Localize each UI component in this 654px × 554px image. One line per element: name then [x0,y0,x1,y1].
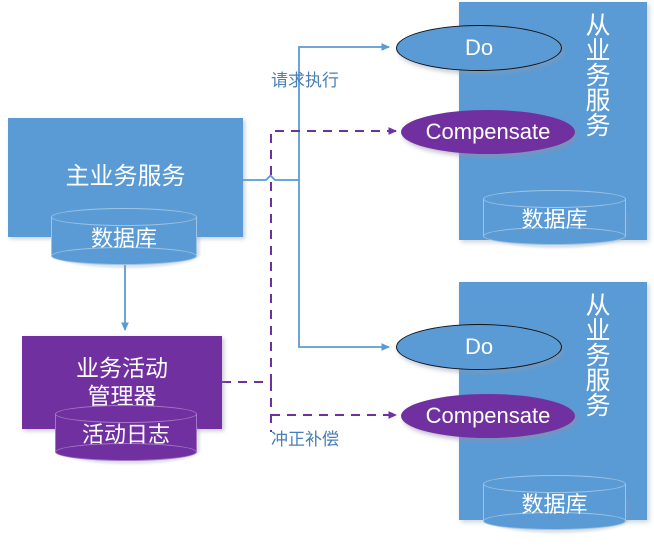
request-execute-edge-label: 请求执行 [271,66,339,91]
sub-service-1-do-node[interactable]: Do [396,25,562,71]
sub-service-2-do-node[interactable]: Do [396,324,562,370]
sub-service-1-database: 数据库 [483,190,626,245]
activity-log-database: 活动日志 [55,405,197,461]
edge-reversal-compensate [222,131,396,432]
sub-service-2-database: 数据库 [483,475,626,530]
activity-log-label: 活动日志 [55,405,197,461]
main-business-service-label: 主业务服务 [66,163,186,191]
edge-request-execute [243,47,389,347]
business-activity-manager-label: 业务活动 管理器 [76,355,168,409]
main-service-database-label: 数据库 [51,208,197,265]
sub-service-2-compensate-label: Compensate [426,403,551,429]
sub-service-1-database-label: 数据库 [483,190,626,245]
sub-service-2-compensate-node[interactable]: Compensate [401,394,575,438]
sub-service-1-do-label: Do [465,35,493,61]
sub-service-panel-2-label: 从业务服务 [574,292,610,417]
diagram-canvas: 从业务服务 从业务服务 数据库 数据库 Do Compensate Do Com… [0,0,654,554]
main-service-database: 数据库 [51,208,197,265]
sub-service-2-database-label: 数据库 [483,475,626,530]
sub-service-1-compensate-node[interactable]: Compensate [401,110,575,154]
sub-service-panel-1-label: 从业务服务 [574,12,610,137]
reversal-compensate-edge-label: 冲正补偿 [271,425,339,450]
sub-service-1-compensate-label: Compensate [426,119,551,145]
sub-service-2-do-label: Do [465,334,493,360]
